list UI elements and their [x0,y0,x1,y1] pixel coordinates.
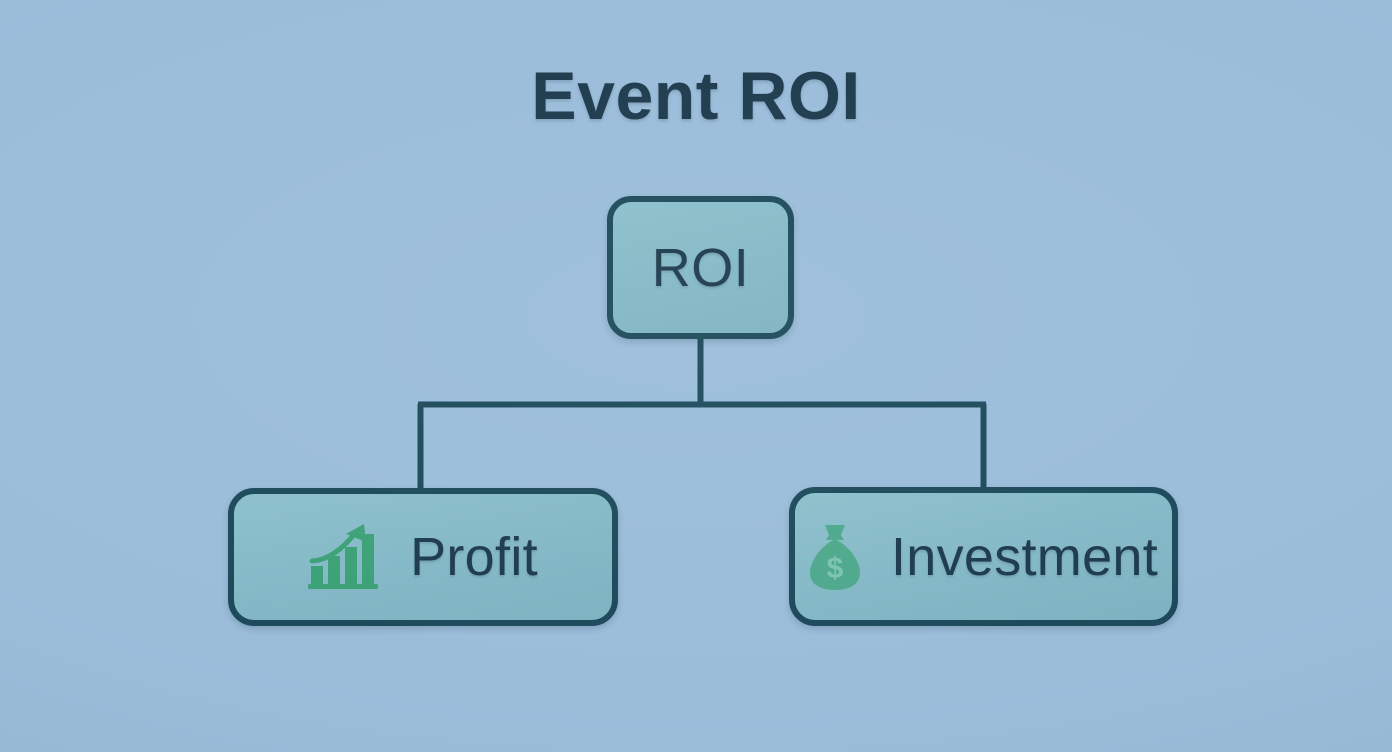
node-profit-label: Profit [410,526,538,588]
node-roi-label: ROI [652,237,750,299]
node-profit-content: Profit [308,522,538,592]
node-profit[interactable]: Profit [228,488,618,626]
node-investment[interactable]: $ Investment [789,487,1178,626]
diagram-canvas: Event ROI ROI [0,0,1392,752]
money-bag-icon: $ [809,522,861,592]
growth-bar-chart-icon [308,522,380,592]
node-investment-content: $ Investment [809,522,1158,592]
node-investment-label: Investment [891,526,1158,588]
connector-lines [0,0,1392,752]
node-roi[interactable]: ROI [607,196,794,339]
svg-text:$: $ [827,552,844,585]
